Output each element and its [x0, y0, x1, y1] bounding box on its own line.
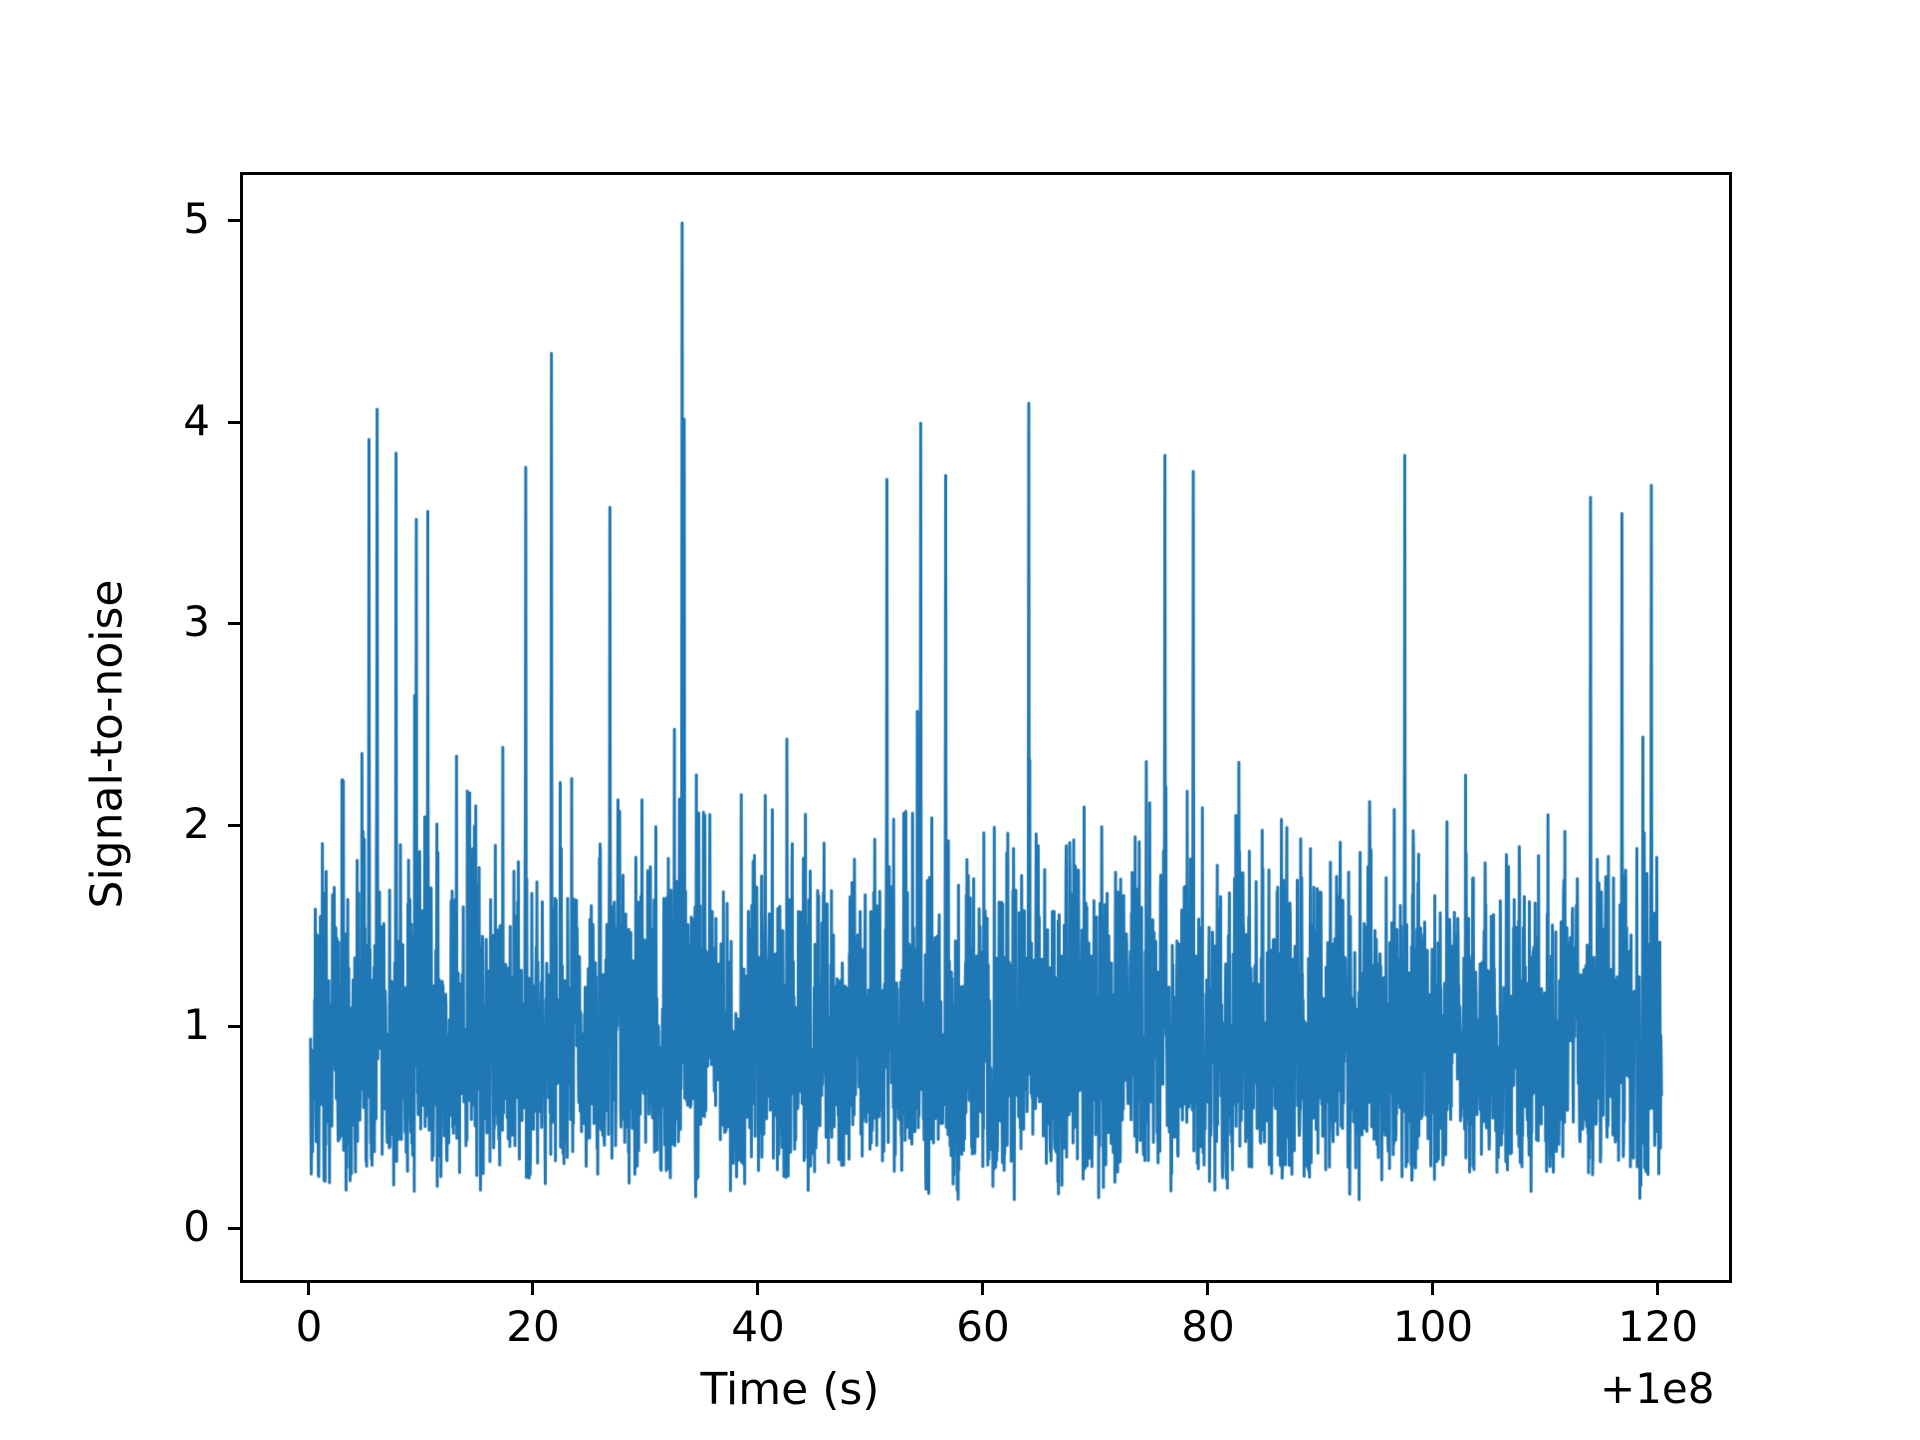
x-axis-offset-label: +1e8 [1600, 1368, 1714, 1410]
xtick-mark-0 [307, 1283, 310, 1295]
x-axis-label-text: Time (s) [701, 1368, 880, 1412]
xtick-mark-20 [531, 1283, 534, 1295]
xtick-mark-60 [981, 1283, 984, 1295]
xtick-label-0: 0 [209, 1306, 409, 1348]
xtick-mark-120 [1656, 1283, 1659, 1295]
ytick-label-4: 4 [120, 400, 210, 442]
xtick-mark-40 [756, 1283, 759, 1295]
xtick-mark-80 [1206, 1283, 1209, 1295]
ytick-label-3: 3 [120, 601, 210, 643]
xtick-label-60: 60 [883, 1306, 1083, 1348]
signal-to-noise-line-series [243, 175, 1729, 1280]
xtick-label-80: 80 [1108, 1306, 1308, 1348]
ytick-mark-0 [228, 1227, 240, 1230]
xtick-mark-100 [1431, 1283, 1434, 1295]
xtick-label-120: 120 [1558, 1306, 1758, 1348]
plot-axes-area [240, 172, 1732, 1283]
ytick-mark-5 [228, 219, 240, 222]
y-axis-label: Signal-to-noise [86, 189, 130, 1300]
ytick-mark-1 [228, 1025, 240, 1028]
xtick-label-40: 40 [658, 1306, 858, 1348]
xtick-label-100: 100 [1333, 1306, 1533, 1348]
ytick-label-5: 5 [120, 198, 210, 240]
ytick-label-2: 2 [120, 803, 210, 845]
figure-canvas: 0 1 2 3 4 5 0 20 40 60 80 100 120 Time (… [0, 0, 1920, 1440]
ytick-mark-4 [228, 421, 240, 424]
ytick-label-1: 1 [120, 1004, 210, 1046]
ytick-mark-3 [228, 622, 240, 625]
ytick-mark-2 [228, 824, 240, 827]
ytick-label-0: 0 [120, 1206, 210, 1248]
xtick-label-20: 20 [433, 1306, 633, 1348]
